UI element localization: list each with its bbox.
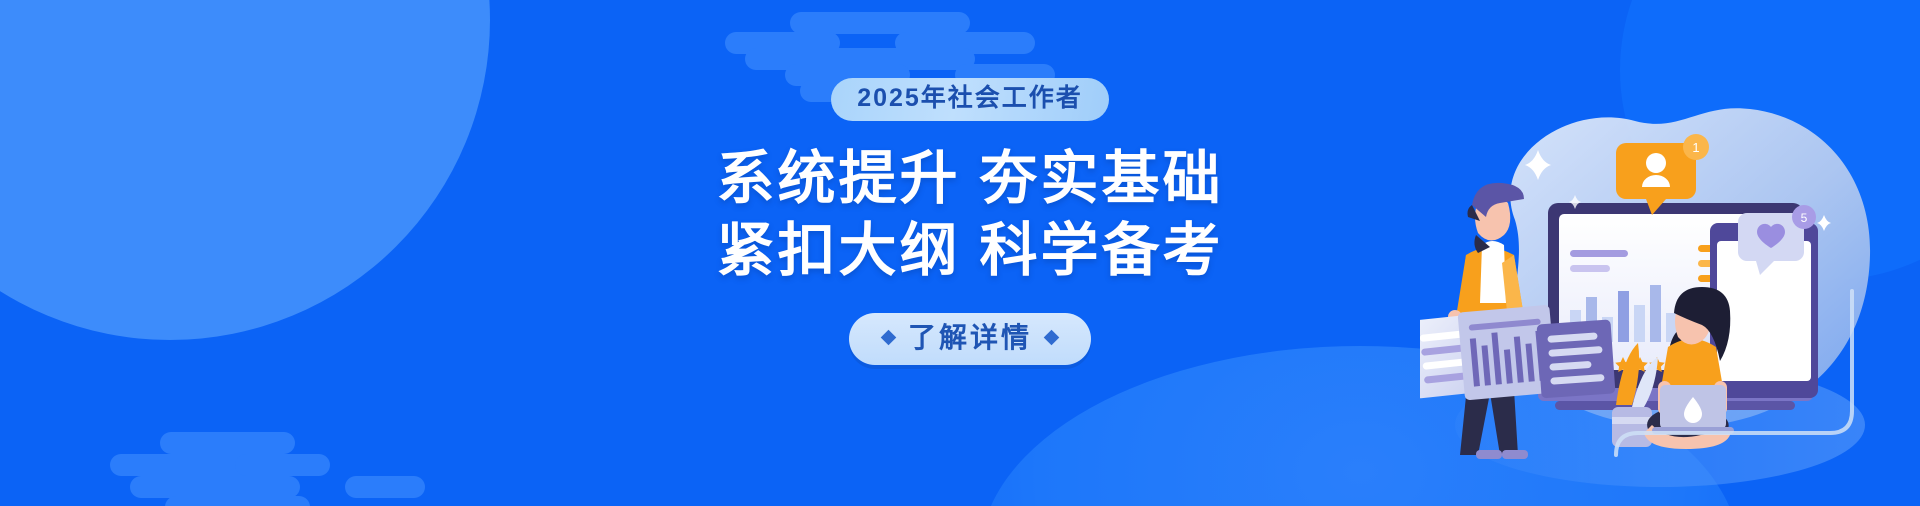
diamond-icon [1044, 330, 1060, 346]
circle-top-left-decoration [0, 0, 490, 340]
campaign-badge: 2025年社会工作者 [831, 78, 1109, 121]
svg-text:5: 5 [1801, 211, 1808, 225]
promo-banner: 2025年社会工作者 系统提升 夯实基础 紧扣大纲 科学备考 了解详情 [0, 0, 1920, 506]
cloud-bottom-left-decoration [110, 432, 450, 506]
hero-illustration: 1 5 [1420, 95, 1880, 495]
learn-more-button[interactable]: 了解详情 [849, 313, 1091, 365]
headline-line-2: 紧扣大纲 科学备考 [690, 215, 1250, 287]
banner-content: 2025年社会工作者 系统提升 夯实基础 紧扣大纲 科学备考 了解详情 [690, 78, 1250, 365]
headline: 系统提升 夯实基础 紧扣大纲 科学备考 [690, 143, 1250, 287]
svg-text:1: 1 [1692, 140, 1699, 155]
learn-more-button-label: 了解详情 [908, 324, 1032, 352]
diamond-icon [881, 330, 897, 346]
headline-line-1: 系统提升 夯实基础 [690, 143, 1250, 215]
laptop-icon [1652, 385, 1734, 434]
